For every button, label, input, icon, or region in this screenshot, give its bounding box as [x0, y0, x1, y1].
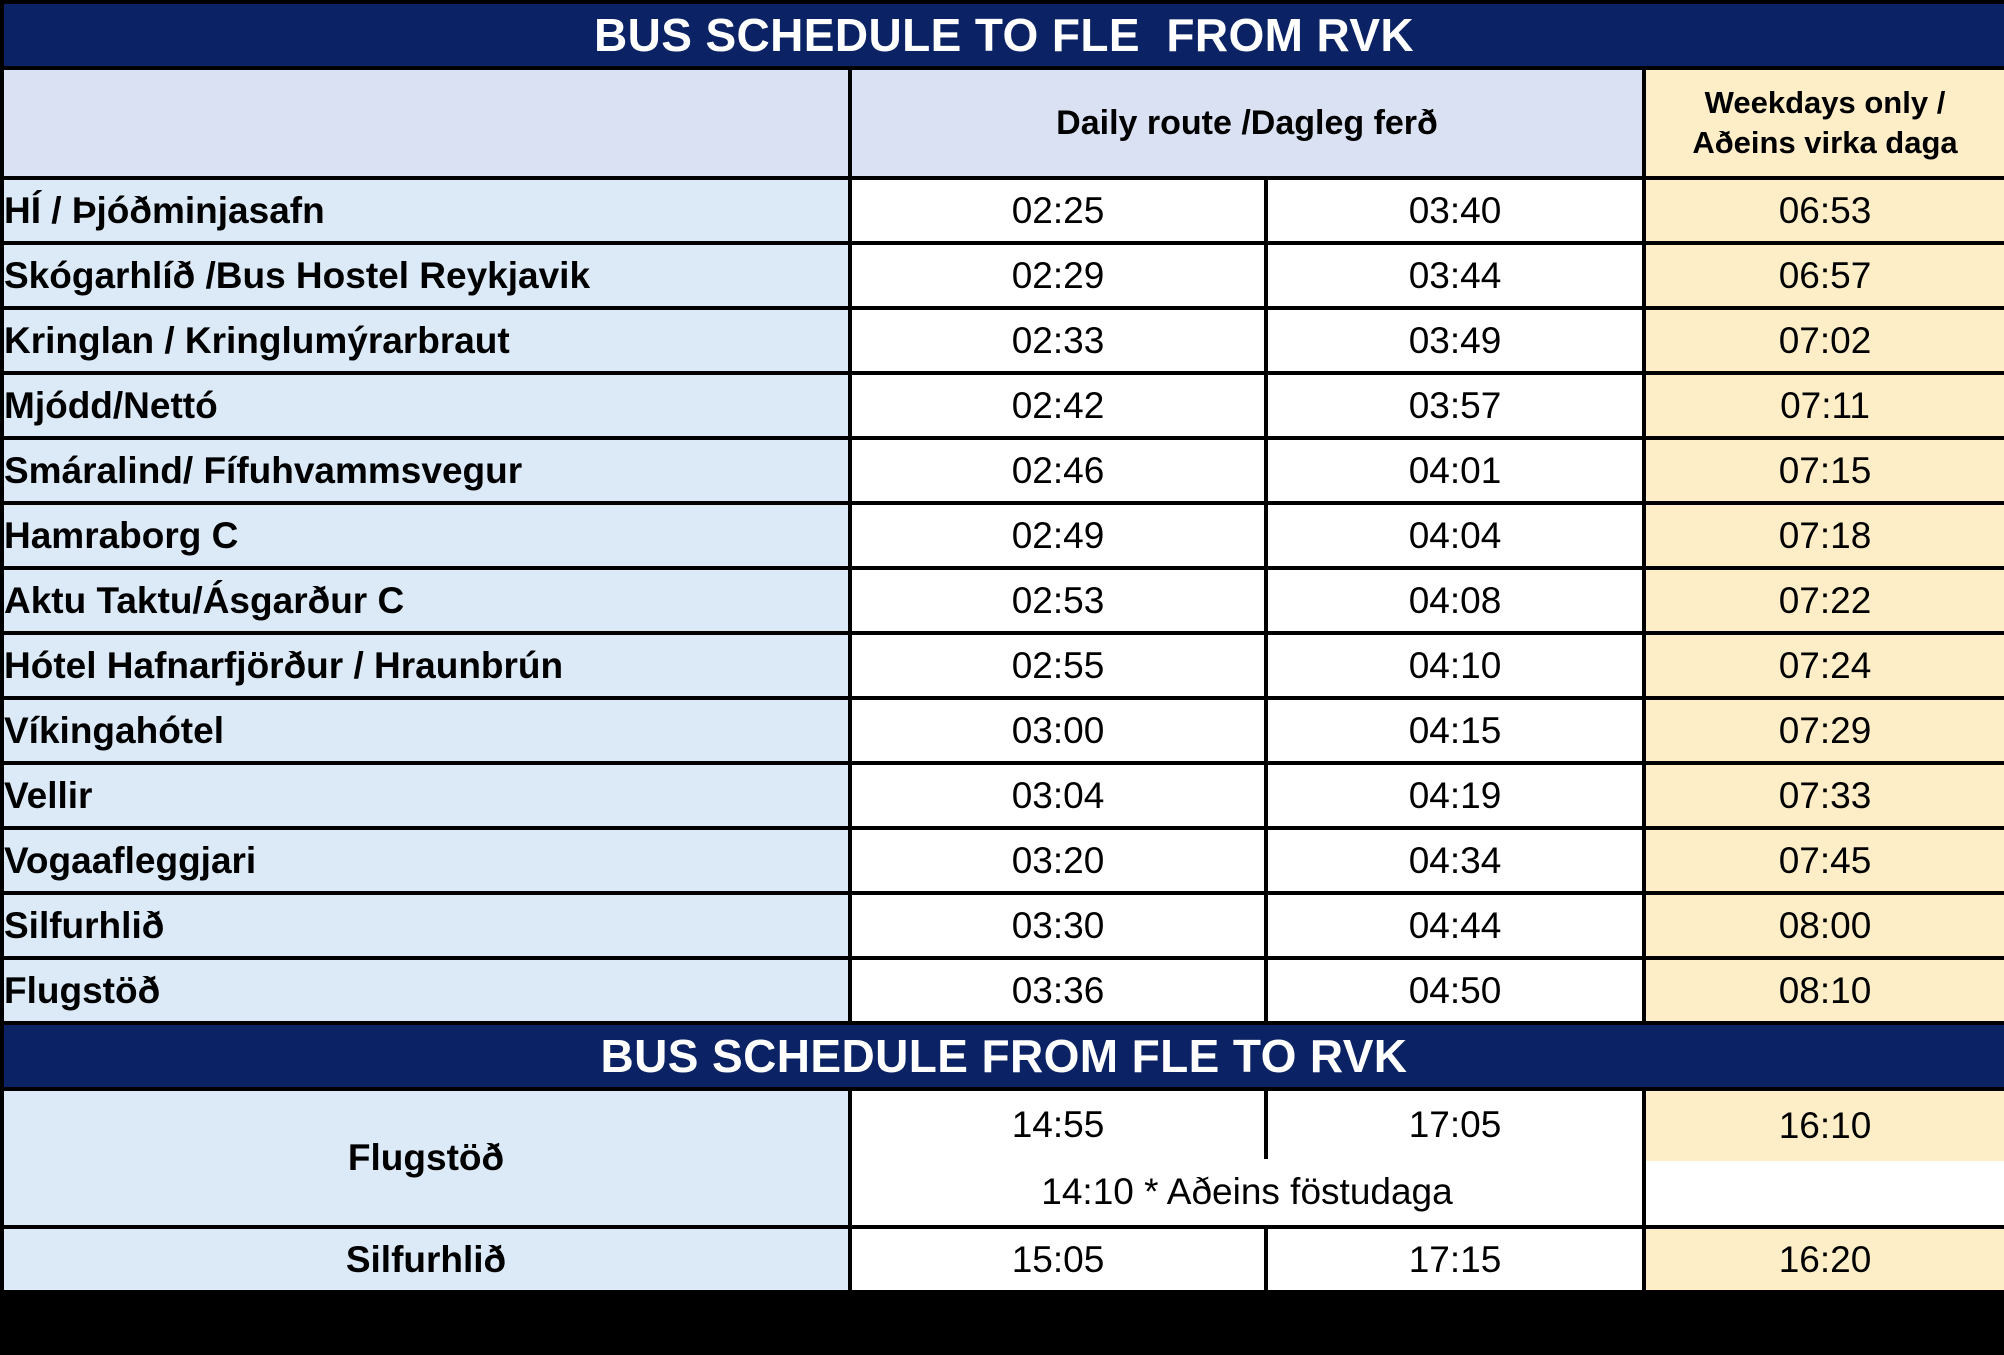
departure-time-2: 03:40	[1266, 178, 1644, 243]
departure-time-1: 02:46	[850, 438, 1266, 503]
weekday-time: 16:10	[1646, 1091, 2004, 1161]
departure-time-2: 04:15	[1266, 698, 1644, 763]
column-header-row: Daily route /Dagleg ferð Weekdays only /…	[2, 68, 2004, 178]
departure-time-1: 03:20	[850, 828, 1266, 893]
departure-time-2: 03:57	[1266, 373, 1644, 438]
daily-route-header: Daily route /Dagleg ferð	[850, 68, 1644, 178]
table-row: Hótel Hafnarfjörður / Hraunbrún 02:55 04…	[2, 633, 2004, 698]
departure-time-2: 04:50	[1266, 958, 1644, 1023]
stop-name: Vogaafleggjari	[2, 828, 850, 893]
departure-time-2: 04:01	[1266, 438, 1644, 503]
table-row: Flugstöð 03:36 04:50 08:10	[2, 958, 2004, 1023]
table-row: HÍ / Þjóðminjasafn 02:25 03:40 06:53	[2, 178, 2004, 243]
table-row: Vogaafleggjari 03:20 04:34 07:45	[2, 828, 2004, 893]
weekdays-only-header: Weekdays only / Aðeins virka daga	[1644, 68, 2004, 178]
table-row: Mjódd/Nettó 02:42 03:57 07:11	[2, 373, 2004, 438]
stop-name: Hamraborg C	[2, 503, 850, 568]
weekday-time: 07:15	[1644, 438, 2004, 503]
departure-time-2: 04:08	[1266, 568, 1644, 633]
weekday-time: 07:02	[1644, 308, 2004, 373]
departure-time-2: 17:05	[1266, 1089, 1644, 1159]
table-row: Aktu Taktu/Ásgarður C 02:53 04:08 07:22	[2, 568, 2004, 633]
departure-time-2: 17:15	[1266, 1227, 1644, 1292]
bus-schedule-sheet: BUS SCHEDULE TO FLE FROM RVK Daily route…	[0, 0, 2004, 1355]
departure-time-2: 04:34	[1266, 828, 1644, 893]
stop-name: Mjódd/Nettó	[2, 373, 850, 438]
outbound-banner-row: BUS SCHEDULE TO FLE FROM RVK	[2, 2, 2004, 68]
departure-time-2: 04:10	[1266, 633, 1644, 698]
departure-time-1: 02:55	[850, 633, 1266, 698]
weekday-time: 07:24	[1644, 633, 2004, 698]
inbound-banner-row: BUS SCHEDULE FROM FLE TO RVK	[2, 1023, 2004, 1089]
departure-time-2: 03:44	[1266, 243, 1644, 308]
departure-time-2: 03:49	[1266, 308, 1644, 373]
table-row: Víkingahótel 03:00 04:15 07:29	[2, 698, 2004, 763]
weekday-time: 16:20	[1644, 1227, 2004, 1292]
weekday-time: 07:11	[1644, 373, 2004, 438]
stop-name: Flugstöð	[2, 1089, 850, 1227]
inbound-banner-title: BUS SCHEDULE FROM FLE TO RVK	[2, 1023, 2004, 1089]
departure-time-1: 02:42	[850, 373, 1266, 438]
stop-name: Skógarhlíð /Bus Hostel Reykjavik	[2, 243, 850, 308]
weekday-time: 07:45	[1644, 828, 2004, 893]
table-row: Silfurhlið 15:05 17:15 16:20	[2, 1227, 2004, 1292]
stop-column-header	[2, 68, 850, 178]
weekdays-only-header-line2: Aðeins virka daga	[1646, 123, 2004, 163]
weekday-time: 07:22	[1644, 568, 2004, 633]
departure-time-1: 02:53	[850, 568, 1266, 633]
departure-time-1: 03:00	[850, 698, 1266, 763]
table-row: Skógarhlíð /Bus Hostel Reykjavik 02:29 0…	[2, 243, 2004, 308]
stop-name: Silfurhlið	[2, 1227, 850, 1292]
stop-name: Smáralind/ Fífuhvammsvegur	[2, 438, 850, 503]
table-row: Silfurhlið 03:30 04:44 08:00	[2, 893, 2004, 958]
stop-name: Aktu Taktu/Ásgarður C	[2, 568, 850, 633]
stop-name: Hótel Hafnarfjörður / Hraunbrún	[2, 633, 850, 698]
weekday-time: 08:00	[1644, 893, 2004, 958]
schedule-table: BUS SCHEDULE TO FLE FROM RVK Daily route…	[0, 0, 2004, 1294]
weekday-blank-spacer	[1646, 1161, 2004, 1225]
weekday-time: 06:57	[1644, 243, 2004, 308]
departure-time-1: 03:36	[850, 958, 1266, 1023]
stop-name: Vellir	[2, 763, 850, 828]
departure-time-1: 02:29	[850, 243, 1266, 308]
table-row: Kringlan / Kringlumýrarbraut 02:33 03:49…	[2, 308, 2004, 373]
weekday-time: 07:33	[1644, 763, 2004, 828]
table-row: Flugstöð 14:55 17:05 16:10	[2, 1089, 2004, 1159]
outbound-banner-title: BUS SCHEDULE TO FLE FROM RVK	[2, 2, 2004, 68]
stop-name: Silfurhlið	[2, 893, 850, 958]
weekday-time-cell: 16:10	[1644, 1089, 2004, 1227]
departure-time-1: 02:25	[850, 178, 1266, 243]
table-row: Vellir 03:04 04:19 07:33	[2, 763, 2004, 828]
table-row: Hamraborg C 02:49 04:04 07:18	[2, 503, 2004, 568]
departure-time-1: 14:55	[850, 1089, 1266, 1159]
stop-name: HÍ / Þjóðminjasafn	[2, 178, 850, 243]
weekday-time: 07:29	[1644, 698, 2004, 763]
departure-time-1: 03:30	[850, 893, 1266, 958]
weekday-time: 07:18	[1644, 503, 2004, 568]
departure-time-1: 15:05	[850, 1227, 1266, 1292]
departure-time-2: 04:44	[1266, 893, 1644, 958]
friday-only-note: 14:10 * Aðeins föstudaga	[850, 1159, 1644, 1227]
weekdays-only-header-line1: Weekdays only /	[1646, 83, 2004, 123]
departure-time-1: 02:49	[850, 503, 1266, 568]
stop-name: Flugstöð	[2, 958, 850, 1023]
departure-time-2: 04:04	[1266, 503, 1644, 568]
table-row: Smáralind/ Fífuhvammsvegur 02:46 04:01 0…	[2, 438, 2004, 503]
stop-name: Kringlan / Kringlumýrarbraut	[2, 308, 850, 373]
departure-time-1: 03:04	[850, 763, 1266, 828]
weekday-time: 08:10	[1644, 958, 2004, 1023]
departure-time-2: 04:19	[1266, 763, 1644, 828]
stop-name: Víkingahótel	[2, 698, 850, 763]
weekday-time: 06:53	[1644, 178, 2004, 243]
departure-time-1: 02:33	[850, 308, 1266, 373]
